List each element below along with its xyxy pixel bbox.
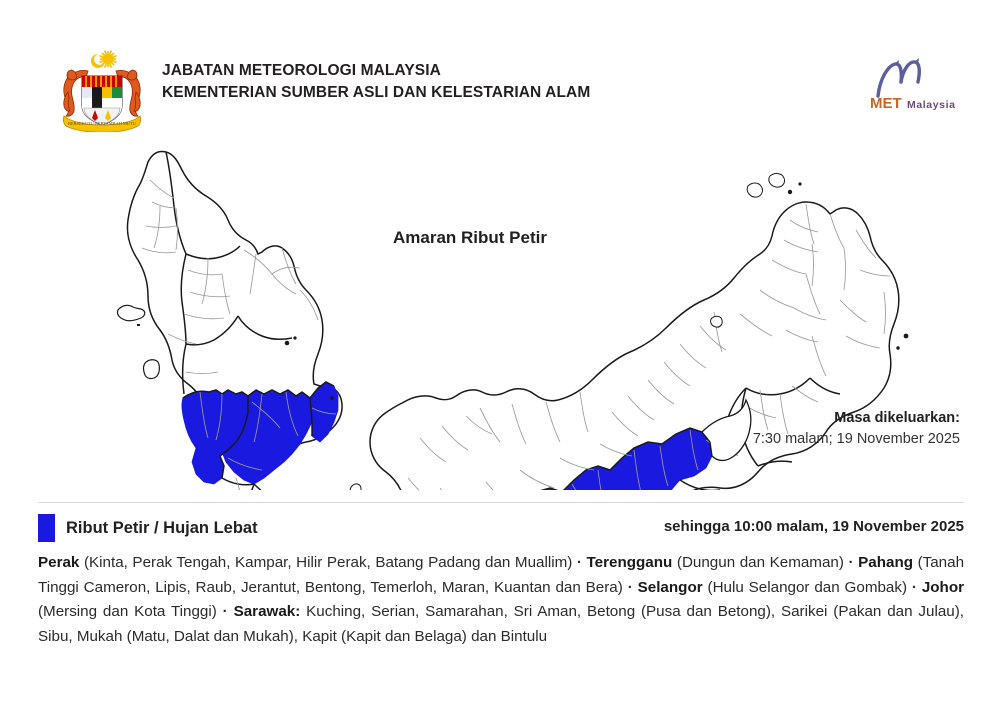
area-district-list: (Mersing dan Kota Tinggi) [38,603,217,620]
department-title: JABATAN METEOROLOGI MALAYSIA [162,60,822,82]
area-separator: · [844,554,858,571]
met-logo-secondary-text: Malaysia [907,99,956,111]
area-state-name: Selangor [638,579,703,596]
langkawi-island [117,305,144,321]
met-malaysia-logo-icon: MET Malaysia [858,52,974,114]
map-title: Amaran Ribut Petir [393,228,547,248]
area-separator: · [217,603,234,620]
peninsular-malaysia-region [117,151,362,490]
malaysia-coat-of-arms-icon: BERSEKUTU BERTAMBAH MUTU [46,44,158,132]
svg-text:BERSEKUTU BERTAMBAH MUTU: BERSEKUTU BERTAMBAH MUTU [68,121,137,126]
issued-time-block: Masa dikeluarkan: 7:30 malam; 19 Novembe… [753,408,960,450]
area-district-list: (Hulu Selangor dan Gombak) [703,579,907,596]
legend-color-swatch [38,514,55,542]
area-state-name: Perak [38,554,79,571]
area-separator: · [907,579,922,596]
langkawi-islet [137,324,140,326]
page-header: BERSEKUTU BERTAMBAH MUTU JABATAN METEORO… [0,0,1000,140]
met-logo-primary-text: MET [870,95,902,112]
issued-value: 7:30 malam; 19 November 2025 [753,429,960,450]
legend-valid-until: sehingga 10:00 malam, 19 November 2025 [664,518,964,535]
area-state-name: Sarawak: [234,603,301,620]
legend-entry: Ribut Petir / Hujan Lebat [38,514,258,542]
area-state-name: Terengganu [587,554,673,571]
penang-island [144,360,160,379]
legend-row: Ribut Petir / Hujan Lebat sehingga 10:00… [38,514,964,544]
area-district-list: (Kinta, Perak Tengah, Kampar, Hilir Pera… [79,554,572,571]
section-divider [38,502,964,503]
tioman-island [350,484,361,490]
area-state-name: Johor [922,579,964,596]
affected-areas-text: Perak (Kinta, Perak Tengah, Kampar, Hili… [38,551,964,649]
ministry-title: KEMENTERIAN SUMBER ASLI DAN KELESTARIAN … [162,82,822,104]
header-titles: JABATAN METEOROLOGI MALAYSIA KEMENTERIAN… [162,60,822,104]
area-separator: · [623,579,638,596]
area-district-list: (Dungun dan Kemaman) [672,554,844,571]
warning-map: Amaran Ribut Petir Masa dikeluarkan: 7:3… [0,140,1000,490]
area-separator: · [572,554,586,571]
issued-label: Masa dikeluarkan: [753,408,960,429]
legend-label: Ribut Petir / Hujan Lebat [66,519,258,538]
area-state-name: Pahang [858,554,913,571]
